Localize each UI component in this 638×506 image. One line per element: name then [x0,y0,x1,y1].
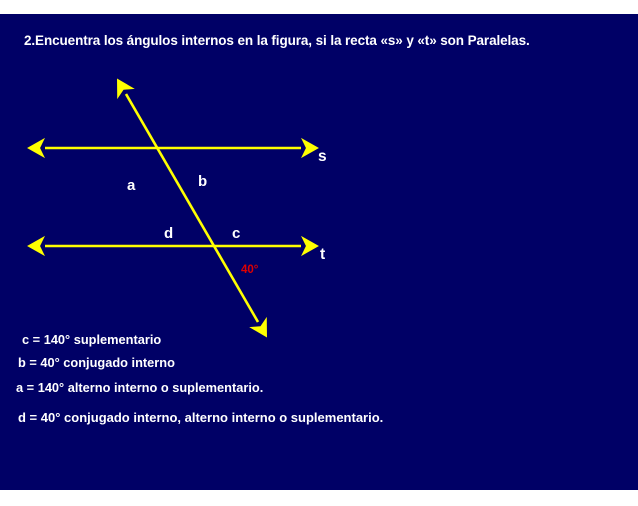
slide: 2.Encuentra los ángulos internos en la f… [0,0,638,506]
answer-line-a: a = 140° alterno interno o suplementario… [16,380,263,395]
angle-label-d: d [164,225,173,242]
page-title: 2.Encuentra los ángulos internos en la f… [24,32,604,50]
transversal-line [126,94,258,322]
angle-label-c: c [232,225,240,242]
line-t-label: t [320,246,325,264]
slide-canvas: 2.Encuentra los ángulos internos en la f… [0,14,638,490]
angle-label-b: b [198,173,207,190]
answer-line-b: b = 40° conjugado interno [18,355,175,370]
answer-line-c: c = 140° suplementario [22,332,161,347]
given-angle-label: 40° [241,264,258,276]
angle-label-a: a [127,177,135,194]
line-s-label: s [318,148,327,166]
answer-line-d: d = 40° conjugado interno, alterno inter… [18,410,383,425]
